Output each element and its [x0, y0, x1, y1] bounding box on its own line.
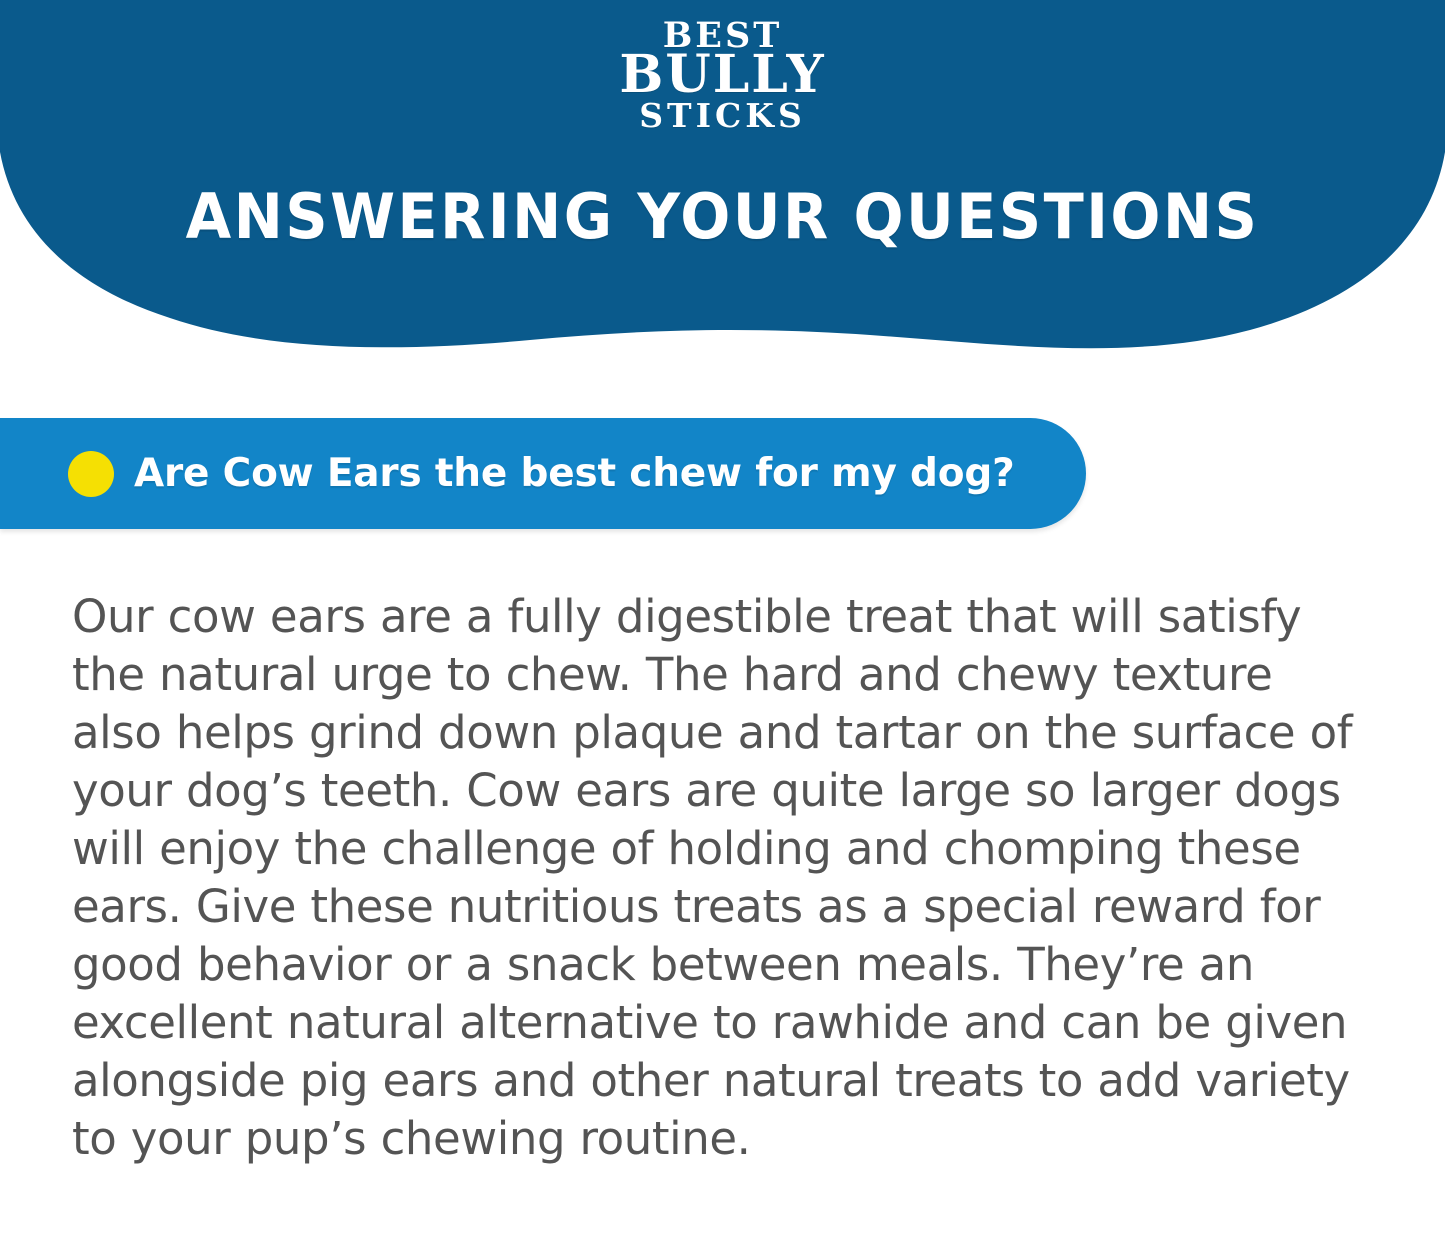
faq-question-text: Are Cow Ears the best chew for my dog?: [134, 454, 1015, 493]
logo-line-bully: BULLY: [0, 49, 1445, 101]
faq-question-bar[interactable]: Are Cow Ears the best chew for my dog?: [0, 418, 1086, 529]
faq-answer-text: Our cow ears are a fully digestible trea…: [72, 588, 1372, 1168]
page-title: ANSWERING YOUR QUESTIONS: [36, 186, 1409, 248]
logo-line-sticks: STICKS: [0, 99, 1445, 132]
yellow-dot-icon: [68, 451, 114, 497]
brand-logo: BEST BULLY STICKS: [0, 18, 1445, 132]
